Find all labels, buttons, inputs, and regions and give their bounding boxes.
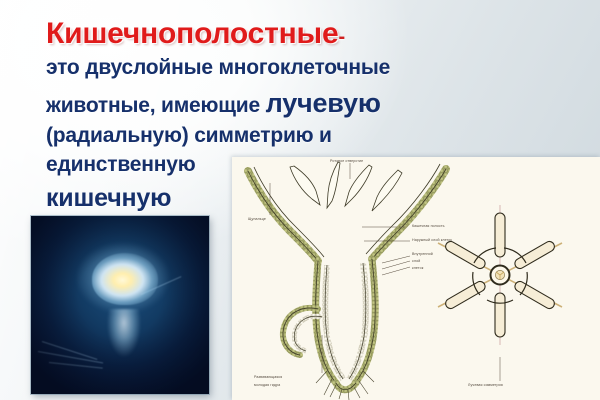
body-line-2: животные, имеющие лучевую bbox=[46, 89, 566, 118]
emphasis-luchevuyu: лучевую bbox=[266, 88, 381, 118]
slide-title-line: Кишечнополостные- bbox=[46, 18, 566, 50]
label-tentacle: Щупальце bbox=[248, 217, 266, 222]
label-inner-cell-layer-line1: Внутренний bbox=[412, 252, 433, 257]
radial-symmetry-figure bbox=[438, 205, 562, 345]
presentation-slide: Кишечнополостные- это двуслойные многокл… bbox=[0, 0, 600, 400]
title-dash: - bbox=[338, 26, 344, 48]
label-radial-symmetry: Лучевая симметрия bbox=[468, 383, 503, 388]
label-young-hydra-line1: Развивающаяся bbox=[254, 375, 282, 380]
label-inner-cell-layer-line3: клеток bbox=[412, 266, 423, 271]
jellyfish-photo bbox=[31, 216, 209, 394]
hydra-body bbox=[248, 162, 446, 400]
label-outer-cell-layer: Наружный слой клеток bbox=[412, 238, 452, 243]
hydra-diagram-svg bbox=[232, 157, 600, 400]
body-line-2-text: животные, имеющие bbox=[46, 94, 266, 117]
label-gut-cavity: Кишечная полость bbox=[412, 224, 445, 229]
label-inner-cell-layer-line2: слой bbox=[412, 259, 420, 264]
label-mouth-opening: Ротовое отверстие bbox=[330, 159, 363, 164]
body-line-1: это двуслойные многоклеточные bbox=[46, 57, 566, 79]
body-line-3: (радиальную) симметрию и bbox=[46, 125, 566, 147]
label-young-hydra-line2: молодая гидра bbox=[254, 383, 280, 388]
hydra-anatomy-diagram: Ротовое отверстие Щупальце Кишечная поло… bbox=[232, 157, 600, 400]
photo-vignette bbox=[31, 216, 209, 394]
page-title: Кишечнополостные bbox=[46, 17, 338, 50]
